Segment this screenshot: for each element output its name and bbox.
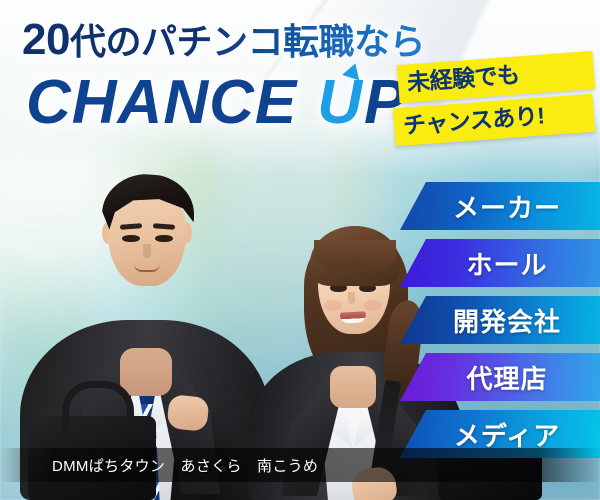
woman-neck (330, 366, 376, 408)
briefcase-left-handle (62, 381, 134, 430)
category-label: ホール (452, 245, 547, 282)
woman-cheek-right (364, 300, 382, 311)
category-label: 代理店 (452, 359, 547, 396)
headline-number: 20 (22, 15, 70, 64)
logo-chance-word: CHANCE (26, 72, 297, 134)
category-label: メーカー (439, 188, 561, 225)
category-button-agency[interactable]: 代理店 (400, 353, 600, 401)
man-nose (143, 244, 151, 258)
headline-rest: 代のパチンコ転職なら (70, 21, 425, 62)
woman-nose (348, 292, 355, 304)
man-neck (120, 348, 172, 396)
logo-up-wrap: U P (317, 72, 405, 134)
category-button-maker[interactable]: メーカー (400, 182, 600, 230)
ad-banner[interactable]: 20代のパチンコ転職なら CHANCE U P 未経験でも チャンスあり! メー… (0, 0, 600, 500)
badge-line-2: チャンスあり! (393, 94, 595, 147)
logo-chance-up: CHANCE U P (26, 72, 405, 134)
category-label: メディア (440, 416, 560, 453)
man-mouth (134, 264, 160, 272)
man-eye-left (122, 235, 140, 242)
category-label: 開発会社 (439, 302, 561, 339)
credit-text: DMMぱちタウン あさくら 南こうめ (52, 455, 318, 476)
page-title: 20代のパチンコ転職なら (22, 18, 425, 62)
status-badge: 未経験でも チャンスあり! (398, 58, 594, 139)
category-button-development[interactable]: 開発会社 (400, 296, 600, 344)
category-button-hall[interactable]: ホール (400, 239, 600, 287)
woman-cheek-left (324, 300, 342, 311)
credit-bar: DMMぱちタウン あさくら 南こうめ (0, 448, 600, 482)
man-eye-right (155, 235, 173, 242)
category-list: メーカー ホール 開発会社 代理店 メディア (400, 182, 600, 467)
man-hand (166, 394, 209, 432)
logo-up-u: U (317, 72, 362, 134)
